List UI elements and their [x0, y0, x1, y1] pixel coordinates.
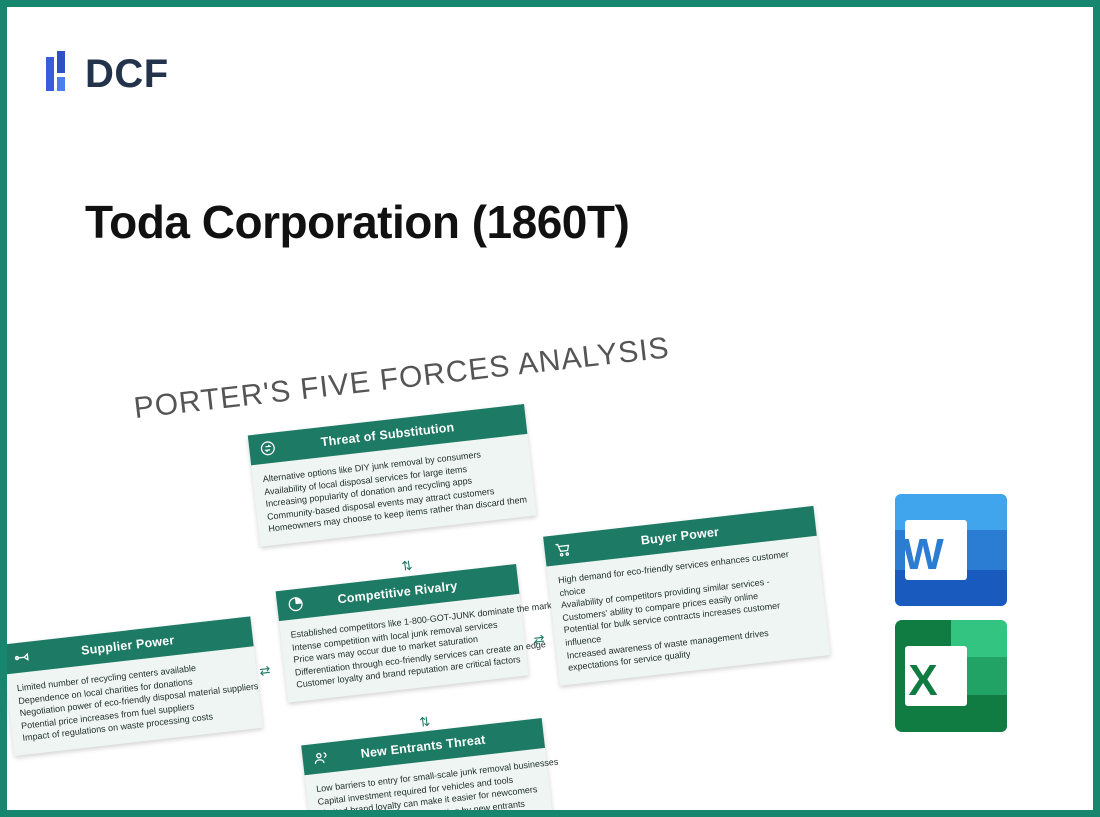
- page-title: Toda Corporation (1860T): [85, 195, 629, 249]
- porters-five-forces-diagram: PORTER'S FIVE FORCES ANALYSIS Threat of …: [0, 290, 892, 817]
- card-threat-of-substitution[interactable]: Threat of Substitution Alternative optio…: [248, 404, 537, 547]
- word-document-icon[interactable]: W: [895, 494, 1007, 606]
- recycle-icon: [258, 439, 277, 458]
- pie-chart-icon: [286, 595, 305, 614]
- dcf-logo[interactable]: DCF: [45, 51, 169, 97]
- shopping-cart-icon: [554, 540, 573, 559]
- diagram-title: PORTER'S FIVE FORCES ANALYSIS: [132, 331, 671, 426]
- excel-icon-letter: X: [895, 656, 979, 706]
- document-page: DCF Toda Corporation (1860T) PORTER'S FI…: [0, 0, 1100, 817]
- connector-arrow-left: ⇄: [259, 664, 269, 678]
- card-new-entrants-threat[interactable]: New Entrants Threat Low barriers to entr…: [301, 718, 553, 817]
- dcf-logo-text: DCF: [85, 52, 169, 97]
- dcf-bars-logo-icon: [45, 51, 75, 97]
- user-group-icon: [312, 749, 331, 768]
- connector-arrow-bottom: ⇅: [419, 715, 429, 729]
- card-supplier-power[interactable]: Supplier Power Limited number of recycli…: [2, 616, 263, 756]
- connector-arrow-right: ⇄: [533, 632, 543, 646]
- word-icon-letter: W: [895, 530, 979, 580]
- connector-arrow-top: ⇅: [401, 559, 411, 573]
- excel-spreadsheet-icon[interactable]: X: [895, 620, 1007, 732]
- card-competitive-rivalry[interactable]: Competitive Rivalry Established competit…: [276, 564, 529, 703]
- card-buyer-power[interactable]: Buyer Power High demand for eco-friendly…: [543, 506, 830, 686]
- tag-icon: [13, 648, 32, 667]
